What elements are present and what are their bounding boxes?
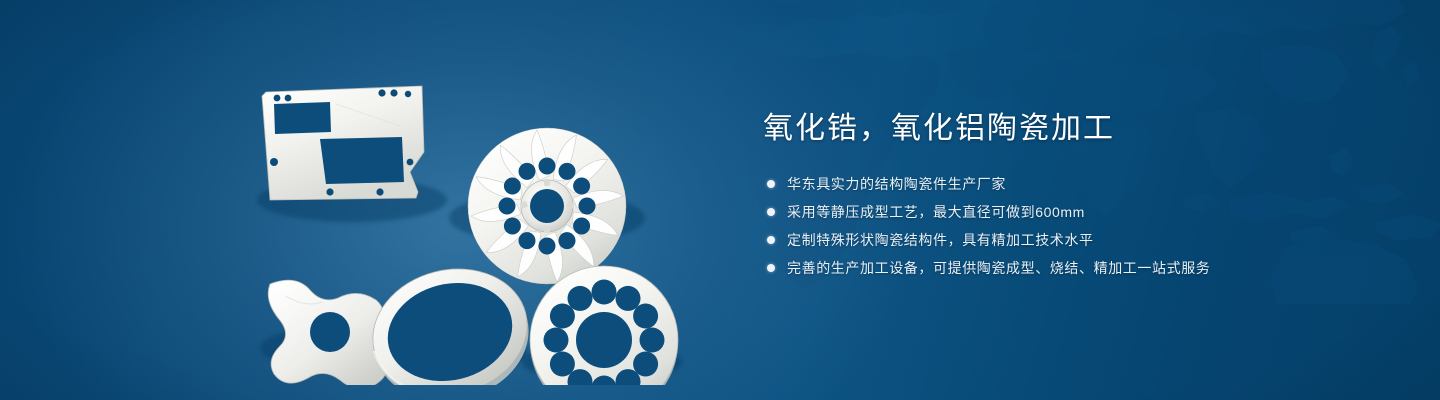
bullet-dot-icon bbox=[767, 264, 775, 272]
bullet-dot-icon bbox=[767, 208, 775, 216]
bullet-dot-icon bbox=[767, 180, 775, 188]
banner-copy: 氧化锆，氧化铝陶瓷加工 华东具实力的结构陶瓷件生产厂家 采用等静压成型工艺，最大… bbox=[763, 110, 1383, 286]
feature-text-3: 定制特殊形状陶瓷结构件，具有精加工技术水平 bbox=[787, 230, 1094, 251]
feature-item-1: 华东具实力的结构陶瓷件生产厂家 bbox=[767, 174, 1383, 195]
feature-item-2: 采用等静压成型工艺，最大直径可做到600mm bbox=[767, 202, 1383, 223]
feature-item-4: 完善的生产加工设备，可提供陶瓷成型、烧结、精加工一站式服务 bbox=[767, 258, 1383, 279]
banner-headline: 氧化锆，氧化铝陶瓷加工 bbox=[763, 110, 1383, 148]
feature-text-1: 华东具实力的结构陶瓷件生产厂家 bbox=[787, 174, 1006, 195]
bullet-dot-icon bbox=[767, 236, 775, 244]
feature-text-4: 完善的生产加工设备，可提供陶瓷成型、烧结、精加工一站式服务 bbox=[787, 258, 1210, 279]
feature-text-2: 采用等静压成型工艺，最大直径可做到600mm bbox=[787, 202, 1085, 223]
feature-item-3: 定制特殊形状陶瓷结构件，具有精加工技术水平 bbox=[767, 230, 1383, 251]
banner-feature-list: 华东具实力的结构陶瓷件生产厂家 采用等静压成型工艺，最大直径可做到600mm 定… bbox=[767, 174, 1383, 279]
promo-banner: 氧化锆，氧化铝陶瓷加工 华东具实力的结构陶瓷件生产厂家 采用等静压成型工艺，最大… bbox=[0, 0, 1440, 400]
